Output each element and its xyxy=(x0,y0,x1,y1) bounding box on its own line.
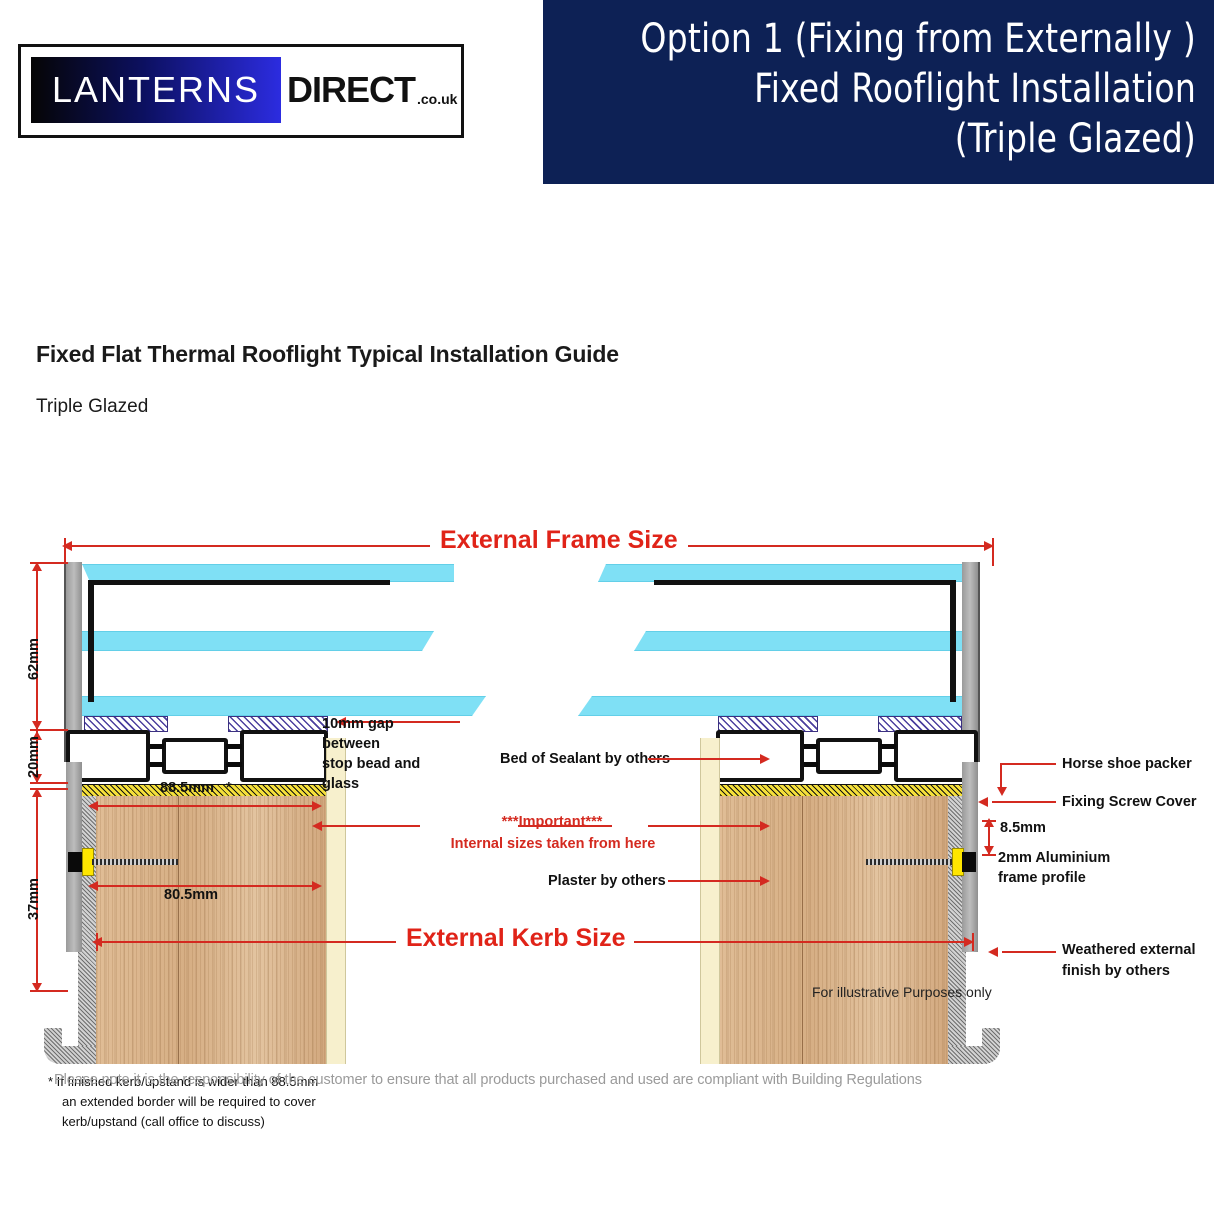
plaster-strip-right xyxy=(700,738,720,1064)
external-frame-size-label: External Frame Size xyxy=(440,526,678,554)
plaster-leader-arrow xyxy=(760,876,770,886)
header-line-1: Option 1 (Fixing from Externally ) xyxy=(595,14,1196,64)
dim37-tick-bottom xyxy=(30,990,68,992)
right-frame-profile xyxy=(716,730,978,782)
frame-size-tick-right xyxy=(992,538,994,566)
glass-spacer-vertical-right xyxy=(950,580,956,702)
right-aluminium-edge-line xyxy=(978,562,980,762)
page-subtitle: Triple Glazed xyxy=(36,396,148,418)
glass-spacer-vertical-left xyxy=(88,580,94,702)
external-kerb-size-label: External Kerb Size xyxy=(406,924,626,952)
logo-word-direct: DIRECT xyxy=(287,57,415,123)
callout-weathered-external-finish: Weathered externalfinish by others xyxy=(1062,940,1212,982)
frame-chamber-center-left xyxy=(162,738,228,774)
plaster-leader xyxy=(668,880,764,882)
dim80-arrow-right xyxy=(312,881,322,891)
frame-chamber-inner-left xyxy=(240,730,328,782)
kerb-size-tick-left xyxy=(96,933,98,951)
thermal-break-c-left xyxy=(226,744,242,749)
left-frame-profile xyxy=(66,730,328,782)
packer-leader-arrow xyxy=(997,787,1007,796)
glass-spacer-top-left xyxy=(88,580,390,585)
dim-62mm: 62mm xyxy=(26,638,42,680)
callout-important: ***Important*** xyxy=(452,812,652,833)
glass-pane-middle-left xyxy=(82,631,434,651)
dim-37mm: 37mm xyxy=(26,878,42,920)
important-leader-left-line xyxy=(316,825,420,827)
thermal-break-d-left xyxy=(226,762,242,767)
dim88-line xyxy=(92,805,320,807)
logo-gradient-panel: LANTERNS xyxy=(31,57,281,123)
timber-seam-left xyxy=(178,796,179,1064)
weathered-leader-arrow xyxy=(988,947,998,957)
sealant-leader xyxy=(648,758,764,760)
thermal-break-a-left xyxy=(150,744,164,749)
dim85-tick-top xyxy=(982,820,996,822)
thermal-break-a-right xyxy=(804,744,818,749)
installation-diagram: External Frame Size 6 xyxy=(0,500,1214,1060)
important-leader-right-line xyxy=(648,825,764,827)
header-line-3: (Triple Glazed) xyxy=(595,114,1196,164)
dim-20mm: 20mm xyxy=(26,736,42,778)
dim37-tick-top xyxy=(30,788,68,790)
illustrative-purposes-note: For illustrative Purposes only xyxy=(812,984,992,1000)
thermal-break-c-right xyxy=(880,744,896,749)
frame-chamber-center-right xyxy=(816,738,882,774)
fixing-screw-left xyxy=(92,859,178,865)
packer-leader-drop xyxy=(1000,763,1002,789)
dim88-arrow-right xyxy=(312,801,322,811)
dim85-tick-bottom xyxy=(982,854,996,856)
header-line-2: Fixed Rooflight Installation xyxy=(595,64,1196,114)
callout-aluminium-frame-profile: 2mm Aluminiumframe profile xyxy=(998,848,1148,888)
page-title: Fixed Flat Thermal Rooflight Typical Ins… xyxy=(36,341,619,368)
callout-bed-of-sealant: Bed of Sealant by others xyxy=(500,750,670,769)
callout-internal-sizes: Internal sizes taken from here xyxy=(428,834,678,855)
glass-spacer-top-right xyxy=(654,580,956,585)
weathered-finish-left-return xyxy=(44,1028,62,1064)
dim80-arrow-left xyxy=(88,881,98,891)
kerb-size-line-left xyxy=(96,941,396,943)
brand-logo: LANTERNS DIRECT .co.uk xyxy=(18,44,464,138)
dim62-tick-top xyxy=(30,562,68,564)
dim-8-5mm: 8.5mm xyxy=(1000,820,1046,836)
timber-kerb-right xyxy=(718,796,948,1064)
fixing-screw-right xyxy=(866,859,952,865)
callout-stop-bead-gap: 10mm gap betweenstop bead and glass xyxy=(322,714,452,794)
important-leader-arrow-right xyxy=(760,821,770,831)
thermal-break-d-right xyxy=(880,762,896,767)
timber-kerb-left xyxy=(96,796,326,1064)
logo-domain-suffix: .co.uk xyxy=(417,91,457,107)
dim-80-5mm: 80.5mm xyxy=(164,887,218,903)
weathered-leader xyxy=(1002,951,1056,953)
callout-fixing-screw-cover: Fixing Screw Cover xyxy=(1062,793,1197,812)
callout-horse-shoe-packer: Horse shoe packer xyxy=(1062,755,1192,774)
sealant-leader-arrow xyxy=(760,754,770,764)
thermal-break-b-left xyxy=(150,762,164,767)
kerb-size-tick-right xyxy=(972,933,974,951)
important-leader-left xyxy=(518,825,612,827)
thermal-break-b-right xyxy=(804,762,818,767)
glass-pane-inner-right xyxy=(578,696,962,716)
weathered-finish-right-return xyxy=(982,1028,1000,1064)
kerb-size-label-wrap: External Kerb Size xyxy=(398,924,634,953)
dim20-tick-bottom xyxy=(30,782,68,784)
logo-word-lanterns: LANTERNS xyxy=(31,57,281,123)
fixing-screw-cover-left xyxy=(68,852,82,872)
glass-pane-middle-right xyxy=(634,631,962,651)
glass-pane-inner-left xyxy=(82,696,486,716)
screw-cover-leader-arrow xyxy=(978,797,988,807)
timber-seam-right xyxy=(802,796,803,1064)
dim88-arrow-left xyxy=(88,801,98,811)
dim-88-5mm: 88.5mm * xyxy=(160,780,232,796)
callout-plaster-by-others: Plaster by others xyxy=(548,872,666,891)
kerb-size-line-right xyxy=(610,941,974,943)
frame-size-label-wrap: External Frame Size xyxy=(430,526,688,555)
footer-disclaimer: Please note it is the responsibility of … xyxy=(54,1072,922,1088)
header-banner: Option 1 (Fixing from Externally ) Fixed… xyxy=(543,0,1214,184)
packer-leader xyxy=(1000,763,1056,765)
screw-cover-leader xyxy=(992,801,1056,803)
fixing-screw-cover-right xyxy=(962,852,976,872)
